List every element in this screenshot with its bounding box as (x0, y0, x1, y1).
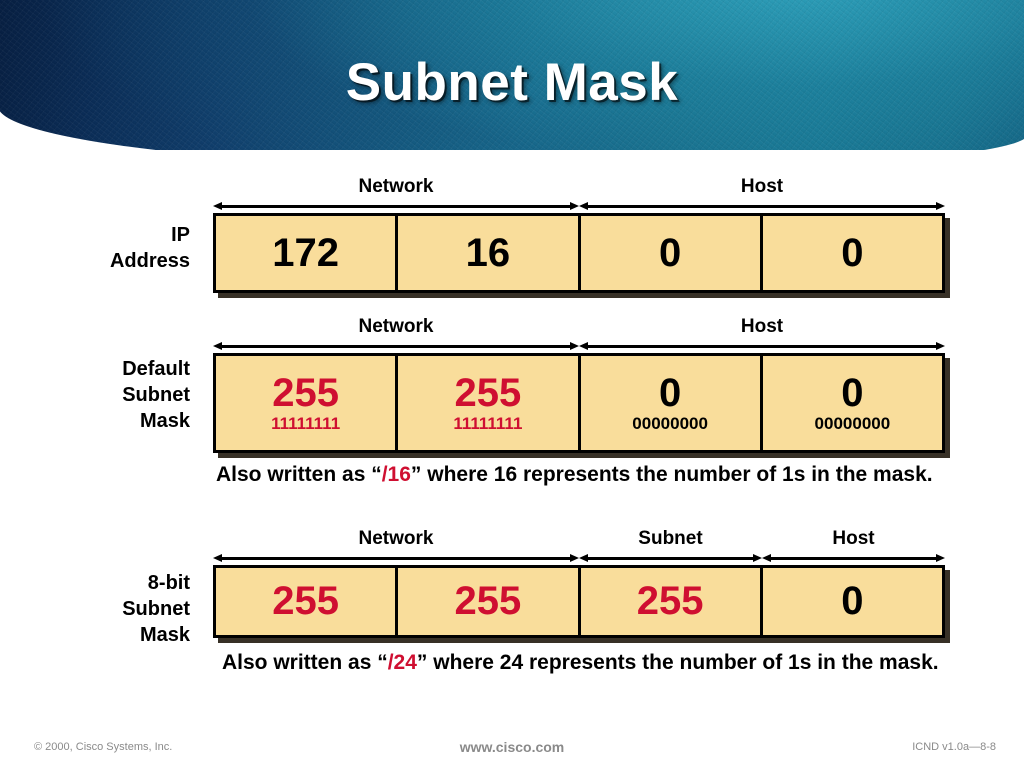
octet-cell: 255 11111111 (216, 356, 398, 450)
octet-cell: 255 (216, 568, 398, 635)
note-text-after: ” where 24 represents the number of 1s i… (417, 651, 939, 674)
span-group-row-ip-address: Network Host (213, 178, 945, 212)
arrow-shaft (584, 345, 940, 348)
octet-cell: 255 (398, 568, 580, 635)
slide-footer: © 2000, Cisco Systems, Inc. www.cisco.co… (0, 735, 1024, 768)
octet-cell: 16 (398, 216, 580, 290)
octet-value: 255 (272, 373, 339, 414)
octet-cell: 0 (763, 568, 942, 635)
arrow-shaft (218, 205, 574, 208)
span-caption-host: Host (762, 528, 945, 550)
span-arrow-network (213, 202, 579, 211)
slide-header-banner: Subnet Mask (0, 0, 1024, 150)
octet-cell: 172 (216, 216, 398, 290)
note-text-before: Also written as “ (216, 463, 382, 486)
row-label-line: Mask (20, 408, 190, 434)
octet-value: 0 (841, 581, 863, 622)
arrow-head-right-icon (570, 202, 579, 210)
octet-cell: 255 (581, 568, 763, 635)
diagram-area: IP Address Network Host 172 16 0 0 (0, 150, 1024, 728)
row-label-line: Subnet (20, 596, 190, 622)
span-arrow-network (213, 342, 579, 351)
octet-table-ip-address: 172 16 0 0 (213, 213, 945, 293)
note-text-after: ” where 16 represents the number of 1s i… (411, 463, 933, 486)
octet-value: 0 (659, 233, 681, 274)
note-prefix-length: /16 (382, 463, 411, 486)
arrow-head-right-icon (936, 342, 945, 350)
octet-value: 172 (272, 233, 339, 274)
arrow-head-right-icon (570, 342, 579, 350)
arrow-head-right-icon (936, 202, 945, 210)
arrow-head-right-icon (936, 554, 945, 562)
row-label-8bit-subnet-mask: 8-bit Subnet Mask (20, 570, 190, 648)
octet-cell: 0 00000000 (581, 356, 763, 450)
arrow-shaft (767, 557, 940, 560)
footer-course-code: ICND v1.0a—8-8 (912, 741, 996, 753)
octet-value: 16 (466, 233, 511, 274)
span-caption-subnet: Subnet (579, 528, 762, 550)
octet-cell: 0 00000000 (763, 356, 942, 450)
octet-value: 0 (841, 373, 863, 414)
span-arrow-host (579, 342, 945, 351)
span-group-row-8bit-subnet-mask: Network Subnet Host (213, 530, 945, 564)
span-arrow-host (762, 554, 945, 563)
octet-bits: 00000000 (632, 415, 708, 433)
octet-value: 0 (841, 233, 863, 274)
page-title: Subnet Mask (0, 52, 1024, 113)
span-caption-network: Network (213, 176, 579, 198)
row-label-default-subnet-mask: Default Subnet Mask (20, 356, 190, 434)
arrow-shaft (584, 205, 940, 208)
note-prefix-length: /24 (388, 651, 417, 674)
row-label-line: Address (20, 248, 190, 274)
arrow-head-right-icon (753, 554, 762, 562)
note-slash-24: Also written as “/24” where 24 represent… (222, 650, 982, 676)
span-caption-network: Network (213, 528, 579, 550)
octet-bits: 11111111 (271, 415, 340, 433)
octet-table-8bit-subnet-mask: 255 255 255 0 (213, 565, 945, 638)
octet-value: 255 (637, 581, 704, 622)
octet-cell: 0 (581, 216, 763, 290)
arrow-head-right-icon (570, 554, 579, 562)
octet-value: 255 (455, 581, 522, 622)
span-group-row-default-subnet-mask: Network Host (213, 318, 945, 352)
row-label-line: Mask (20, 622, 190, 648)
row-label-ip-address: IP Address (20, 222, 190, 274)
octet-cell: 0 (763, 216, 942, 290)
span-caption-host: Host (579, 176, 945, 198)
row-label-line: IP (20, 222, 190, 248)
span-arrow-host (579, 202, 945, 211)
row-label-line: Default (20, 356, 190, 382)
span-arrow-network (213, 554, 579, 563)
span-caption-network: Network (213, 316, 579, 338)
note-slash-16: Also written as “/16” where 16 represent… (216, 462, 976, 488)
span-arrow-subnet (579, 554, 762, 563)
octet-value: 255 (455, 373, 522, 414)
octet-value: 255 (272, 581, 339, 622)
span-caption-host: Host (579, 316, 945, 338)
octet-value: 0 (659, 373, 681, 414)
arrow-shaft (584, 557, 757, 560)
arrow-shaft (218, 557, 574, 560)
footer-url: www.cisco.com (0, 739, 1024, 755)
octet-bits: 00000000 (815, 415, 891, 433)
arrow-shaft (218, 345, 574, 348)
row-label-line: Subnet (20, 382, 190, 408)
octet-bits: 11111111 (453, 415, 522, 433)
note-text-before: Also written as “ (222, 651, 388, 674)
row-label-line: 8-bit (20, 570, 190, 596)
octet-table-default-subnet-mask: 255 11111111 255 11111111 0 00000000 0 0… (213, 353, 945, 453)
octet-cell: 255 11111111 (398, 356, 580, 450)
